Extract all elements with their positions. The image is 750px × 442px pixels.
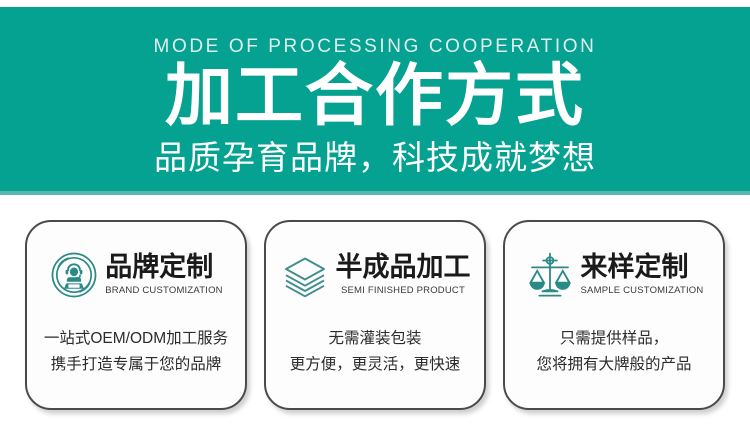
card-body-line: 更方便，更灵活，更快速 <box>266 352 484 378</box>
card-title-group: 半成品加工 SEMI FINISHED PRODUCT <box>336 252 471 298</box>
card-title-en: SEMI FINISHED PRODUCT <box>336 284 471 298</box>
balance-scale-icon <box>525 250 575 300</box>
feature-card-sample-customization[interactable]: 来样定制 SAMPLE CUSTOMIZATION 只需提供样品， 您将拥有大牌… <box>503 220 725 410</box>
banner-title: 加工合作方式 <box>0 59 750 133</box>
card-body: 无需灌装包装 更方便，更灵活，更快速 <box>266 326 484 378</box>
card-title-cn: 半成品加工 <box>336 252 471 283</box>
card-header: 品牌定制 BRAND CUSTOMIZATION <box>27 244 245 306</box>
card-header: 来样定制 SAMPLE CUSTOMIZATION <box>505 244 723 306</box>
card-body-line: 无需灌装包装 <box>266 326 484 352</box>
card-title-en: SAMPLE CUSTOMIZATION <box>581 284 704 298</box>
banner-underline-divider <box>0 191 750 195</box>
layers-stack-icon <box>280 250 330 300</box>
header-banner: MODE OF PROCESSING COOPERATION 加工合作方式 品质… <box>0 7 750 194</box>
card-title-group: 品牌定制 BRAND CUSTOMIZATION <box>105 252 222 298</box>
card-body: 只需提供样品， 您将拥有大牌般的产品 <box>505 326 723 378</box>
card-title-cn: 来样定制 <box>581 252 704 283</box>
banner-subtitle: 品质孕育品牌，科技成就梦想 <box>0 138 750 178</box>
promo-banner-page: MODE OF PROCESSING COOPERATION 加工合作方式 品质… <box>0 0 750 442</box>
feature-card-row: 品牌定制 BRAND CUSTOMIZATION 一站式OEM/ODM加工服务 … <box>0 216 750 422</box>
card-title-en: BRAND CUSTOMIZATION <box>105 284 222 298</box>
card-header: 半成品加工 SEMI FINISHED PRODUCT <box>266 244 484 306</box>
card-title-cn: 品牌定制 <box>105 252 222 283</box>
feature-card-semi-finished-product[interactable]: 半成品加工 SEMI FINISHED PRODUCT 无需灌装包装 更方便，更… <box>264 220 486 410</box>
card-body-line: 只需提供样品， <box>505 326 723 352</box>
card-body: 一站式OEM/ODM加工服务 携手打造专属于您的品牌 <box>27 326 245 378</box>
card-body-line: 携手打造专属于您的品牌 <box>27 352 245 378</box>
banner-eyebrow-text: MODE OF PROCESSING COOPERATION <box>0 36 750 58</box>
card-title-group: 来样定制 SAMPLE CUSTOMIZATION <box>581 252 704 298</box>
card-body-line: 一站式OEM/ODM加工服务 <box>27 326 245 352</box>
feature-card-brand-customization[interactable]: 品牌定制 BRAND CUSTOMIZATION 一站式OEM/ODM加工服务 … <box>25 220 247 410</box>
card-body-line: 您将拥有大牌般的产品 <box>505 352 723 378</box>
headset-agent-icon <box>49 250 99 300</box>
